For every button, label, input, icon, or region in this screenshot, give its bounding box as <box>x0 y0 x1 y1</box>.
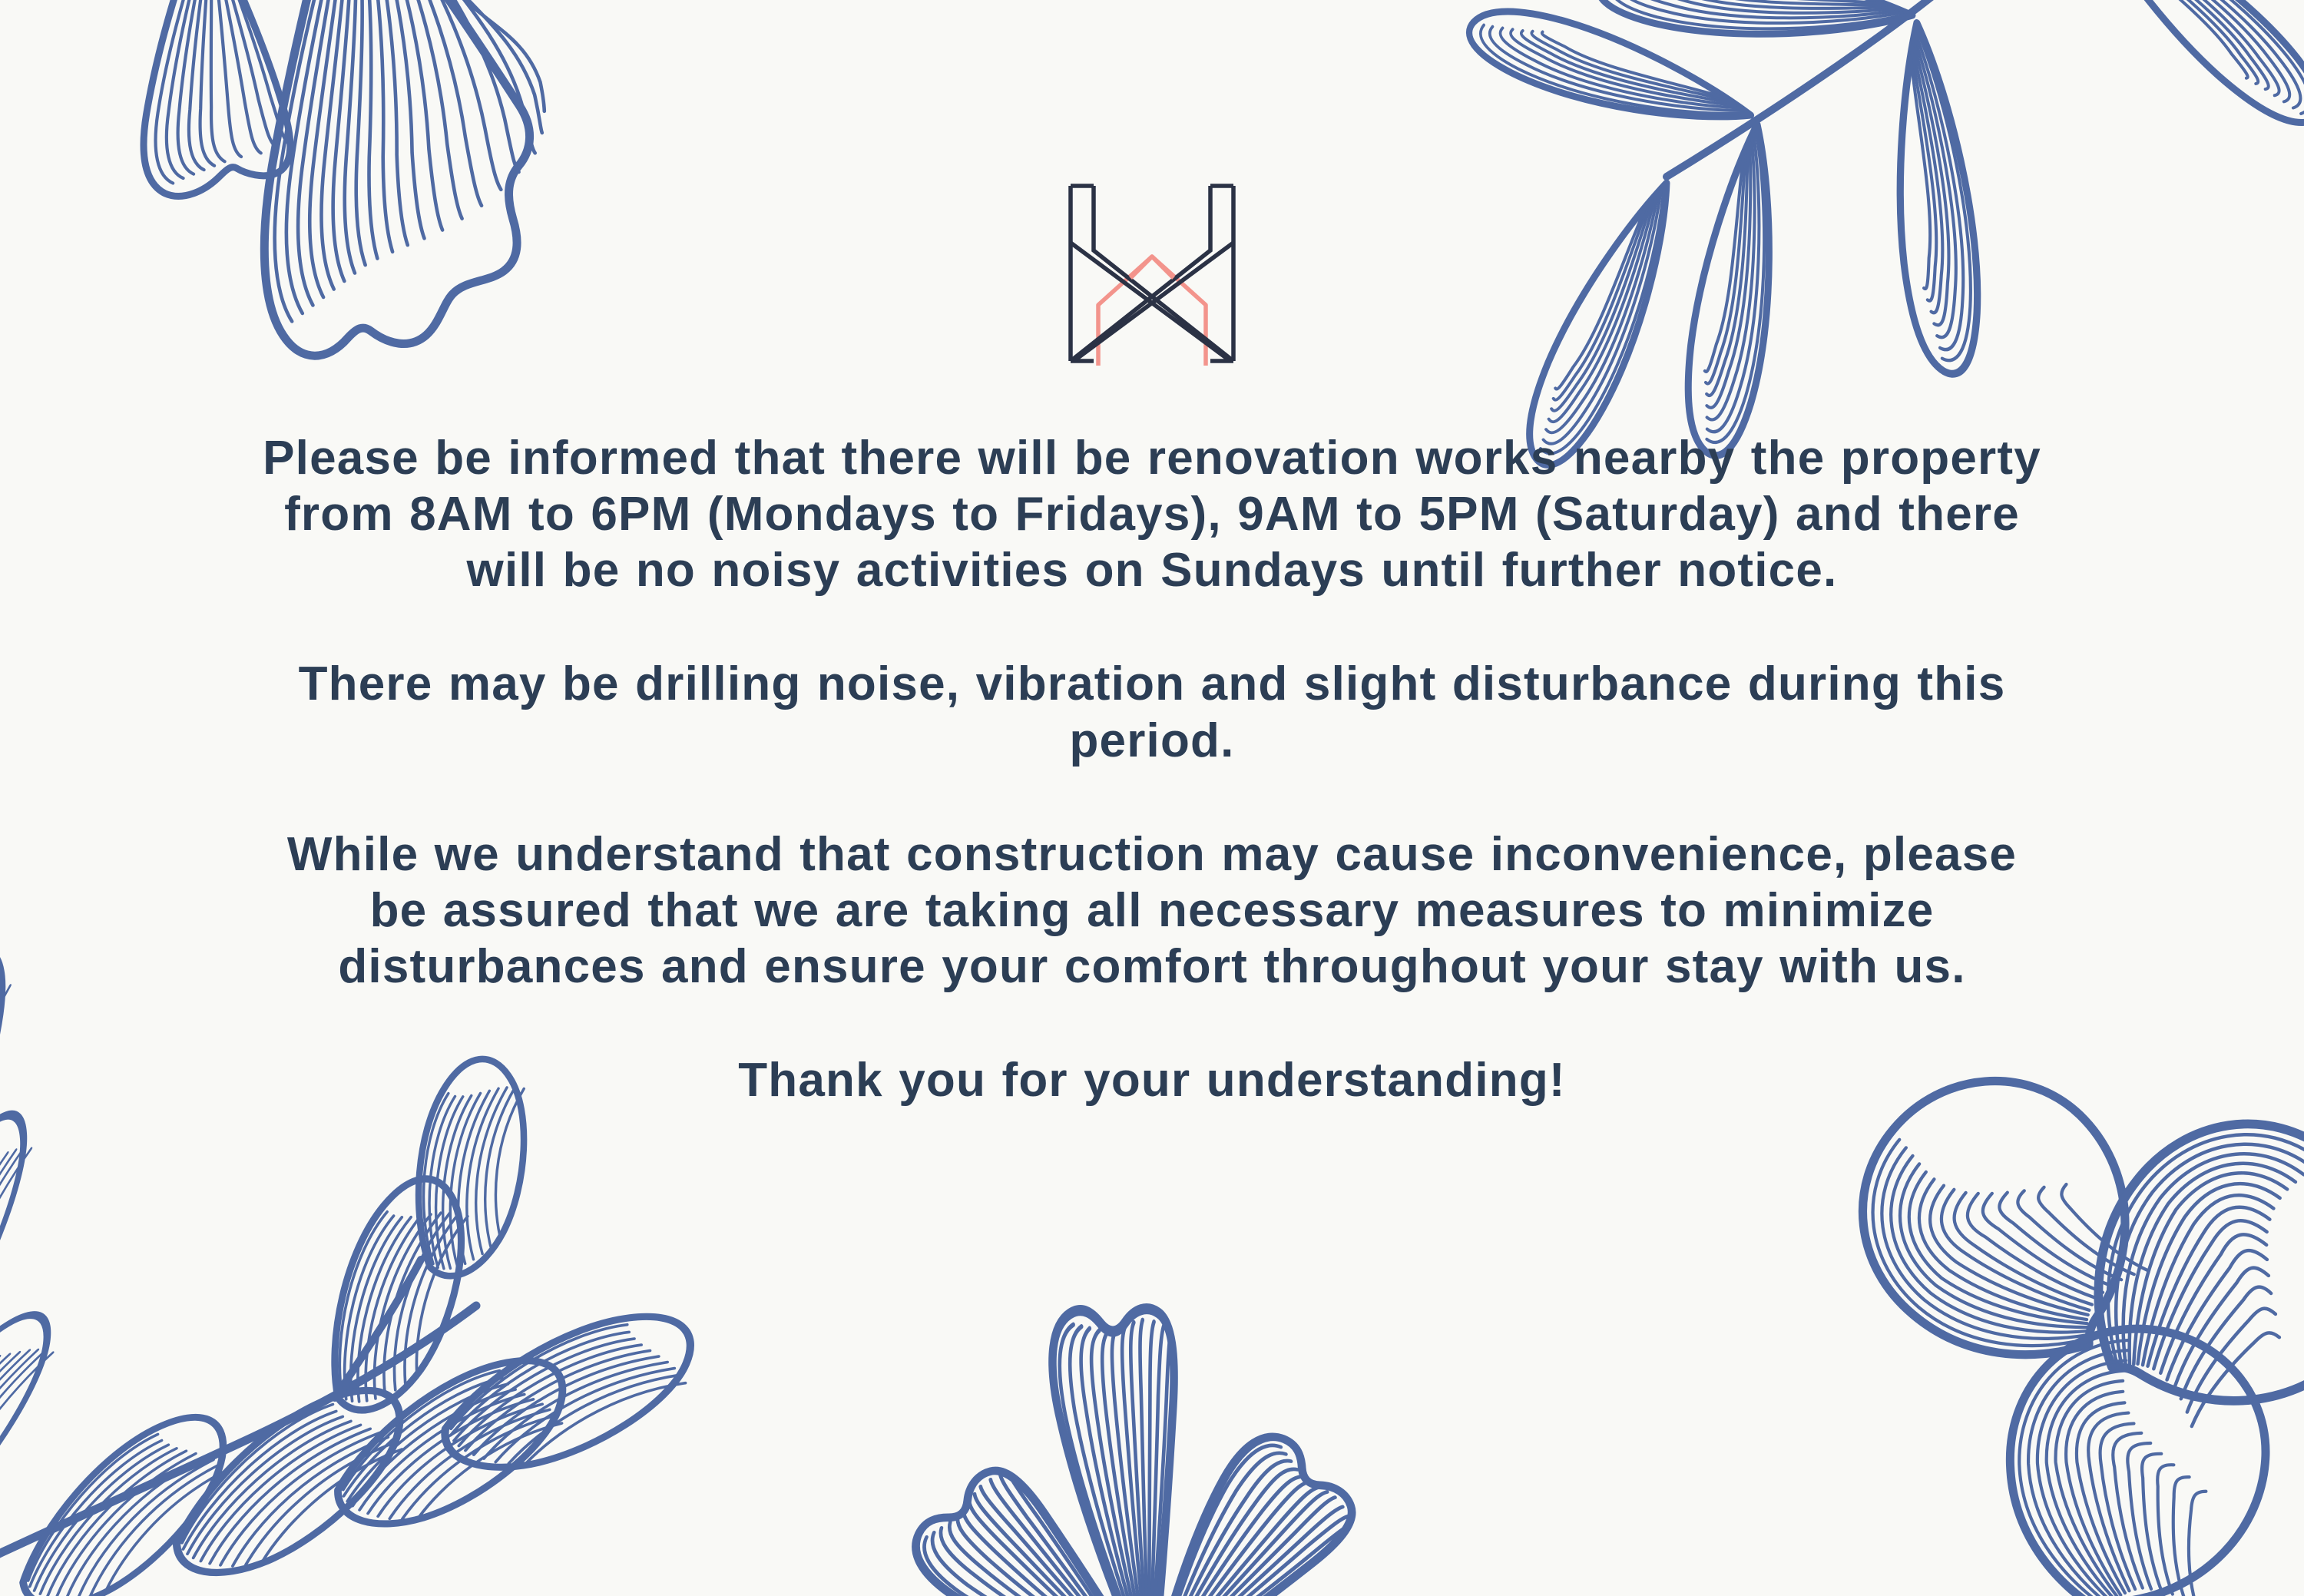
notice-message: Please be informed that there will be re… <box>0 430 2304 1108</box>
round-petals-icon <box>1843 1045 2304 1596</box>
renovation-notice-poster: Please be informed that there will be re… <box>0 0 2304 1596</box>
notice-paragraph-3: While we understand that construction ma… <box>253 826 2051 995</box>
brand-logo <box>0 181 2304 366</box>
notice-paragraph-1: Please be informed that there will be re… <box>253 430 2051 598</box>
hotel-monogram-h-icon <box>1060 181 1244 366</box>
notice-paragraph-2: There may be drilling noise, vibration a… <box>253 656 2051 768</box>
ginkgo-flower-icon <box>829 1206 1536 1596</box>
notice-paragraph-4: Thank you for your understanding! <box>253 1052 2051 1108</box>
